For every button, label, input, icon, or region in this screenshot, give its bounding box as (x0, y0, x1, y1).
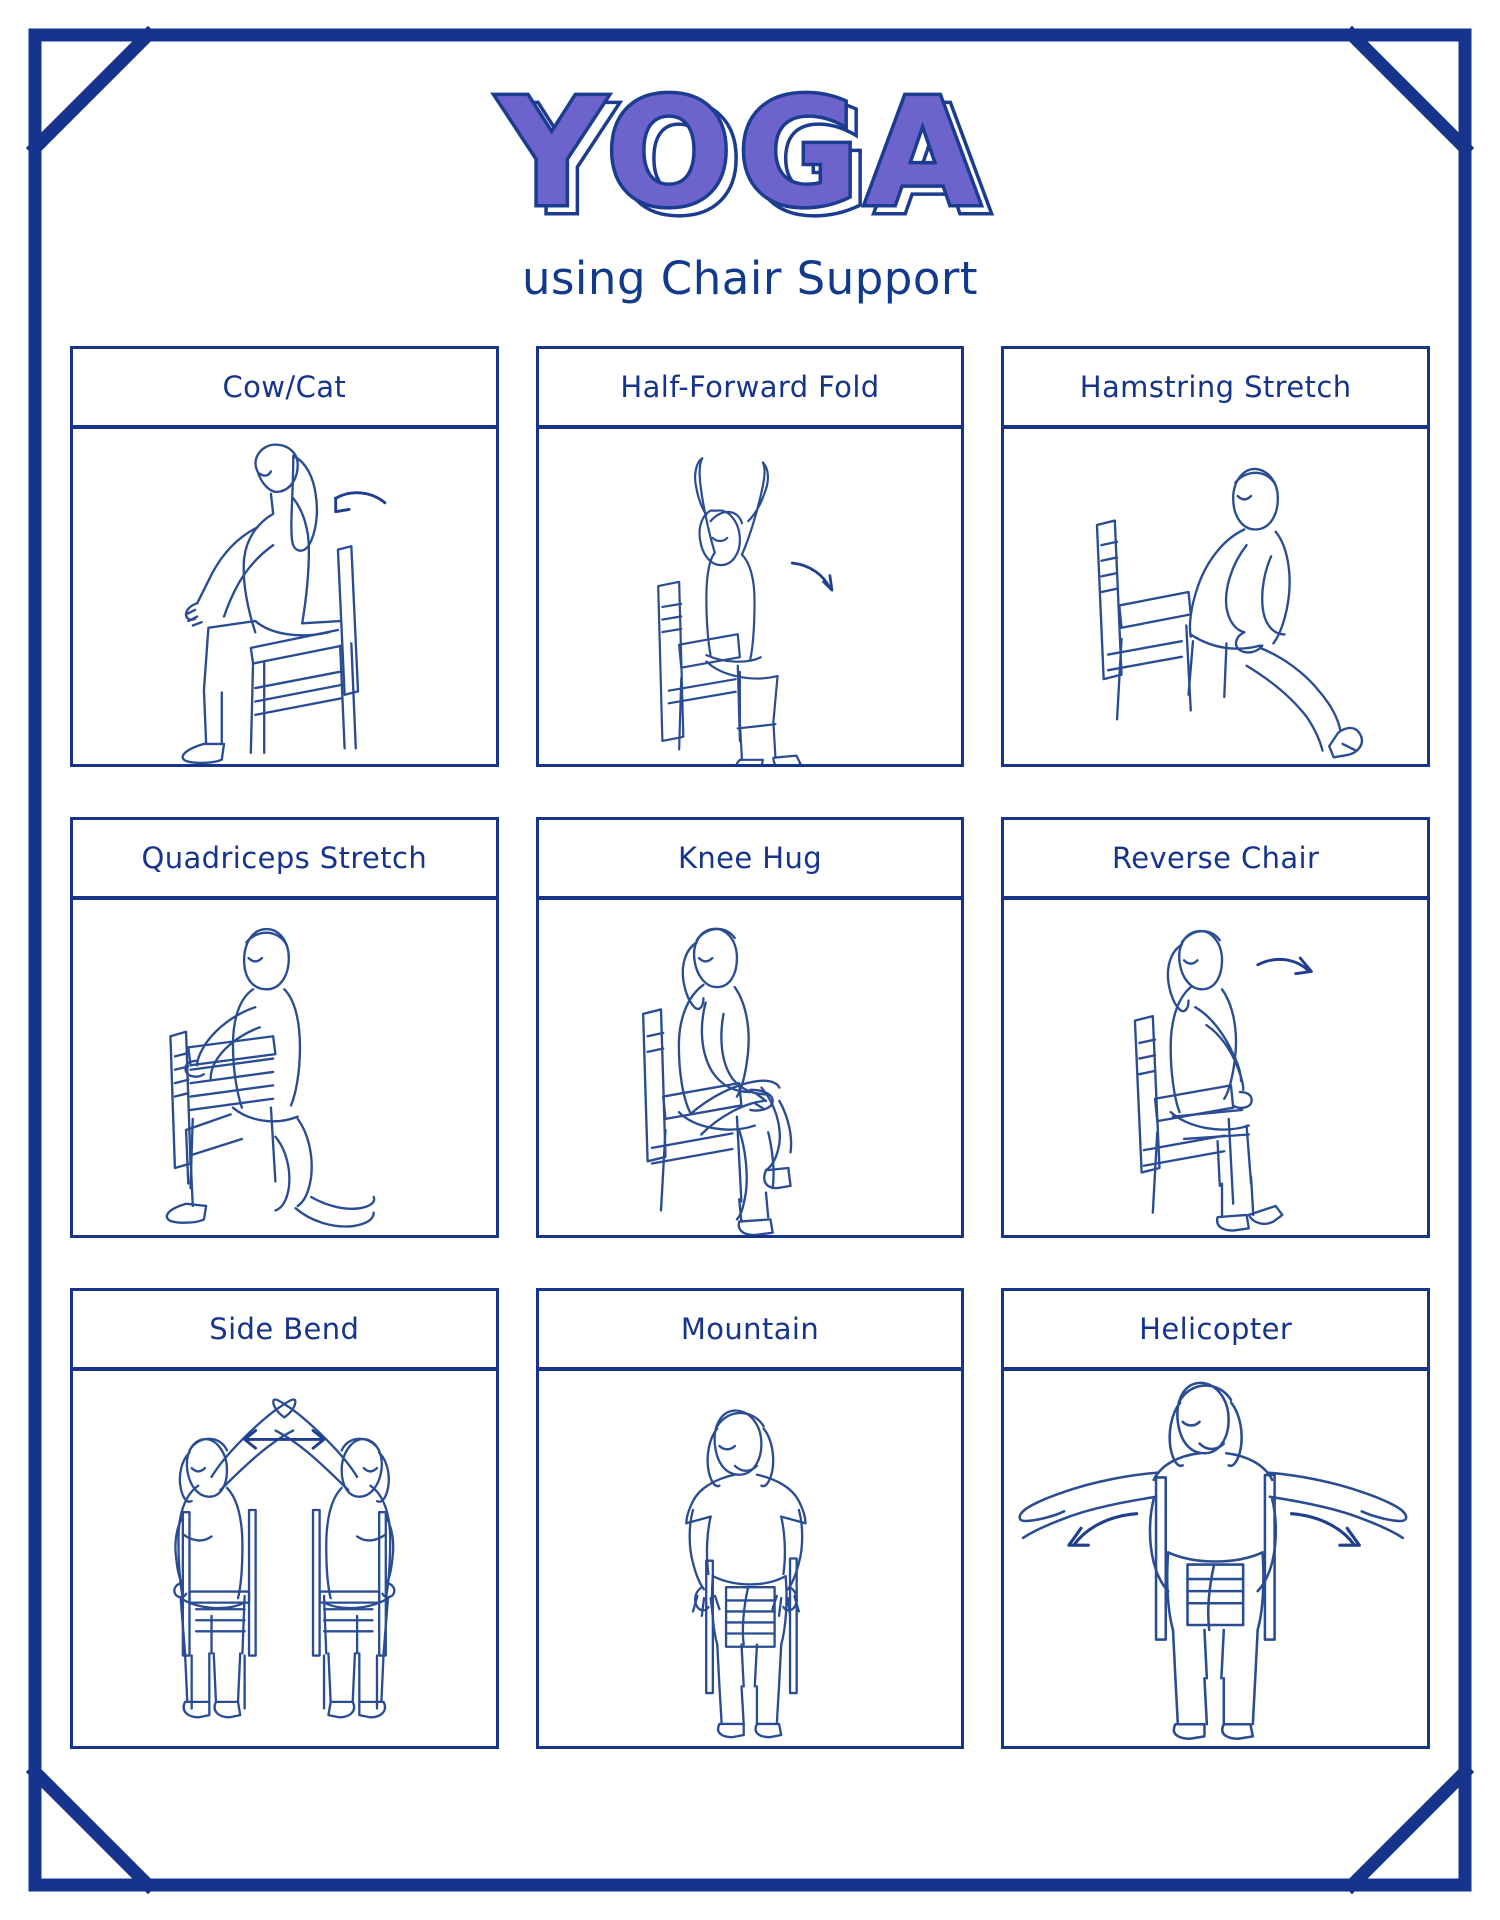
pose-card[interactable]: Reverse Chair (1001, 817, 1430, 1238)
pose-card-body (70, 900, 499, 1238)
pose-illustration-helicopter (1004, 1371, 1427, 1746)
pose-label: Quadriceps Stretch (141, 841, 427, 875)
pose-card[interactable]: Knee Hug (536, 817, 965, 1238)
pose-label: Reverse Chair (1112, 841, 1319, 875)
pose-card[interactable]: Helicopter (1001, 1288, 1430, 1749)
pose-illustration-cow-cat (73, 429, 496, 764)
pose-card-header: Reverse Chair (1001, 817, 1430, 900)
pose-card-body (1001, 429, 1430, 767)
pose-card-body (1001, 900, 1430, 1238)
pose-label: Cow/Cat (222, 370, 346, 404)
pose-label: Helicopter (1139, 1312, 1292, 1346)
pose-grid: Cow/Cat (70, 346, 1430, 1749)
pose-card-header: Quadriceps Stretch (70, 817, 499, 900)
pose-card-header: Side Bend (70, 1288, 499, 1371)
pose-card-body (70, 429, 499, 767)
pose-illustration-half-forward-fold (539, 429, 962, 764)
pose-card-header: Cow/Cat (70, 346, 499, 429)
pose-card[interactable]: Hamstring Stretch (1001, 346, 1430, 767)
side-bend-figure-right (273, 1400, 394, 1718)
pose-card-header: Helicopter (1001, 1288, 1430, 1371)
pose-card[interactable]: Mountain (536, 1288, 965, 1749)
pose-label: Knee Hug (678, 841, 822, 875)
pose-card-header: Half-Forward Fold (536, 346, 965, 429)
pose-label: Mountain (681, 1312, 819, 1346)
pose-card[interactable]: Half-Forward Fold (536, 346, 965, 767)
title-main-text: YOGA (496, 80, 986, 239)
pose-illustration-quadriceps-stretch (73, 900, 496, 1235)
yoga-poster: YOGA YOGA using Chair Support Cow/Cat (0, 0, 1500, 1920)
pose-label: Half-Forward Fold (620, 370, 879, 404)
pose-card-body (70, 1371, 499, 1749)
pose-card-header: Hamstring Stretch (1001, 346, 1430, 429)
pose-card-header: Knee Hug (536, 817, 965, 900)
title-block: YOGA YOGA using Chair Support (70, 80, 1430, 302)
pose-illustration-reverse-chair (1004, 900, 1427, 1235)
side-bend-figure-left (174, 1400, 295, 1718)
pose-illustration-side-bend (73, 1371, 496, 1746)
pose-illustration-knee-hug (539, 900, 962, 1235)
pose-card-body (1001, 1371, 1430, 1749)
poster-title: YOGA YOGA (470, 80, 1030, 245)
pose-card-body (536, 1371, 965, 1749)
pose-label: Side Bend (209, 1312, 359, 1346)
pose-card[interactable]: Quadriceps Stretch (70, 817, 499, 1238)
pose-card[interactable]: Side Bend (70, 1288, 499, 1749)
pose-card[interactable]: Cow/Cat (70, 346, 499, 767)
pose-illustration-hamstring-stretch (1004, 429, 1427, 764)
pose-card-header: Mountain (536, 1288, 965, 1371)
pose-label: Hamstring Stretch (1080, 370, 1352, 404)
pose-card-body (536, 900, 965, 1238)
pose-card-body (536, 429, 965, 767)
poster-subtitle: using Chair Support (70, 255, 1430, 302)
pose-illustration-mountain (539, 1371, 962, 1746)
